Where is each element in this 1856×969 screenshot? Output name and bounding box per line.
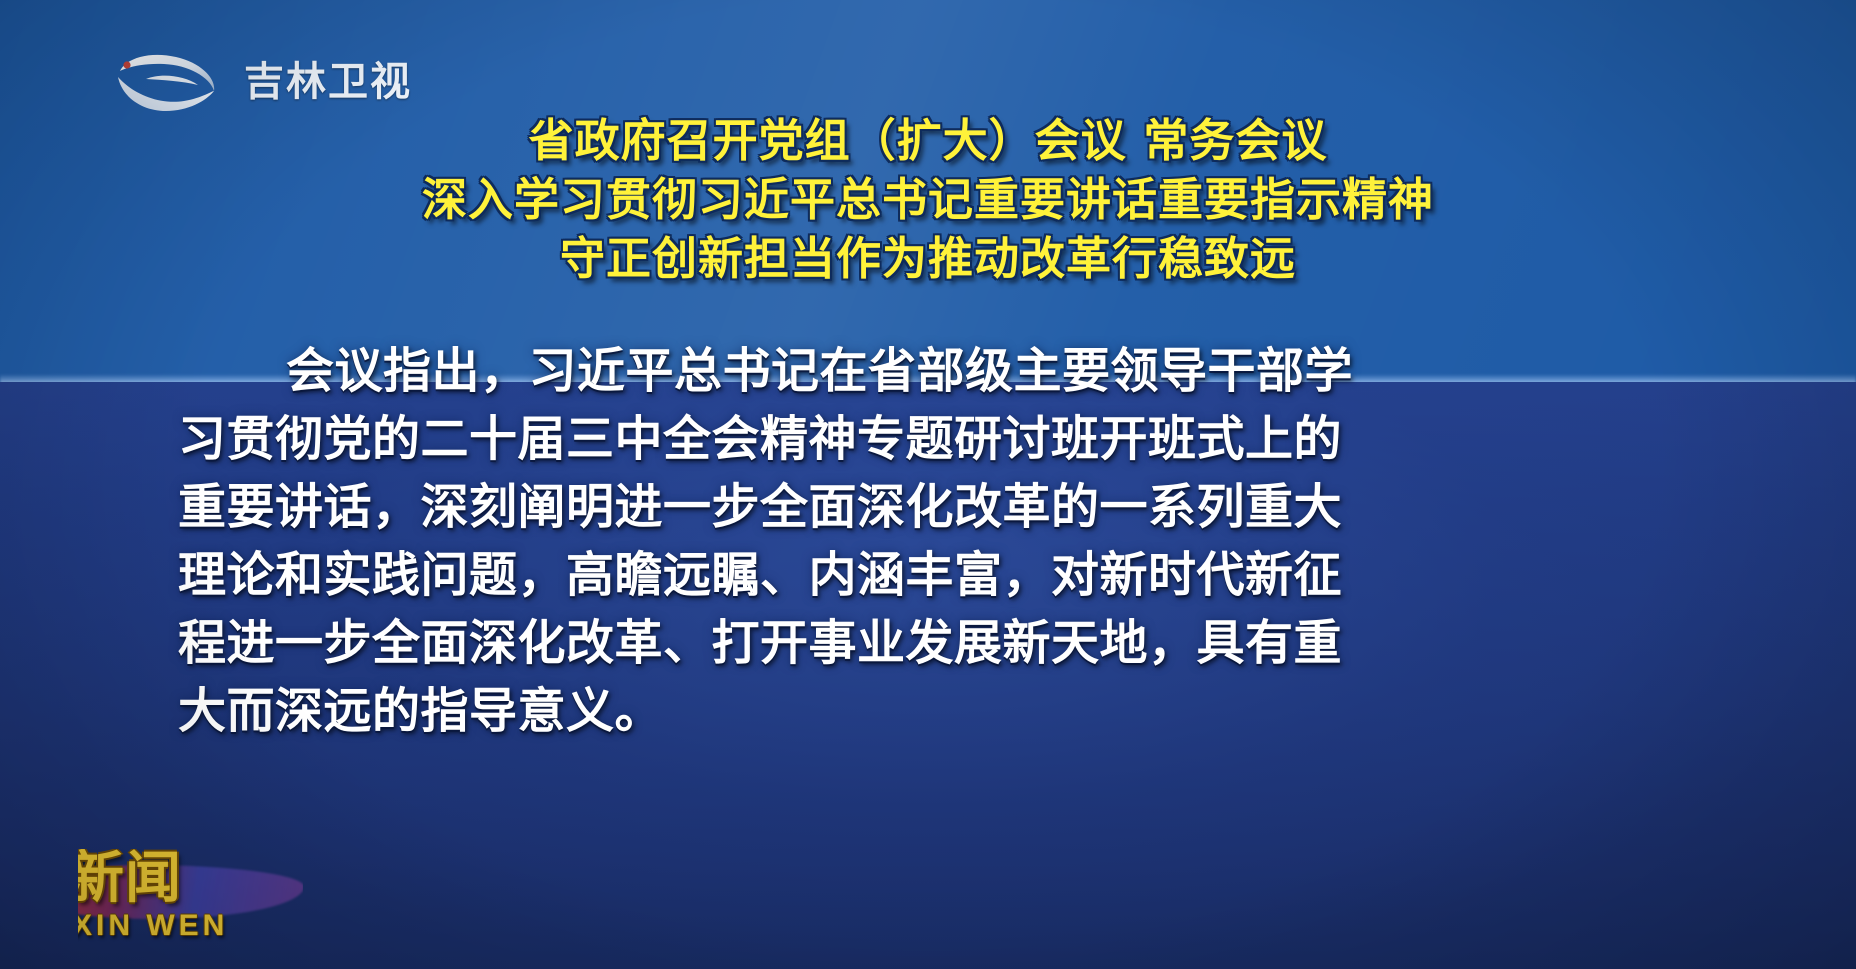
body-line: 会议指出，习近平总书记在省部级主要领导干部学 [178,337,1410,405]
channel-wordmark: 吉林卫视 [244,62,412,102]
swoosh-bird-icon [110,49,234,115]
body-paragraph: 会议指出，习近平总书记在省部级主要领导干部学 习贯彻党的二十届三中全会精神专题研… [178,337,1410,745]
program-bug-title-cn: 新闻 [78,851,182,907]
body-line: 大而深远的指导意义。 [178,677,1410,745]
headline-line-3: 守正创新担当作为推动改革行稳致远 [0,236,1856,281]
body-line: 程进一步全面深化改革、打开事业发展新天地，具有重 [178,609,1410,677]
channel-logo: 吉林卫视 [110,46,412,118]
body-line: 习贯彻党的二十届三中全会精神专题研讨班开班式上的 [178,405,1410,473]
headline-line-1: 省政府召开党组（扩大）会议 常务会议 [0,118,1856,163]
headline-line-2: 深入学习贯彻习近平总书记重要讲话重要指示精神 [0,177,1856,222]
headline-block: 省政府召开党组（扩大）会议 常务会议 深入学习贯彻习近平总书记重要讲话重要指示精… [0,118,1856,281]
body-line: 理论和实践问题，高瞻远瞩、内涵丰富，对新时代新征 [178,541,1410,609]
broadcast-screen: 吉林卫视 省政府召开党组（扩大）会议 常务会议 深入学习贯彻习近平总书记重要讲话… [0,0,1856,969]
program-bug-title-pinyin: XIN WEN [78,909,228,943]
program-bug: 新闻 XIN WEN [78,849,303,949]
program-bug-inner: 新闻 XIN WEN [78,849,303,949]
body-line: 重要讲话，深刻阐明进一步全面深化改革的一系列重大 [178,473,1410,541]
